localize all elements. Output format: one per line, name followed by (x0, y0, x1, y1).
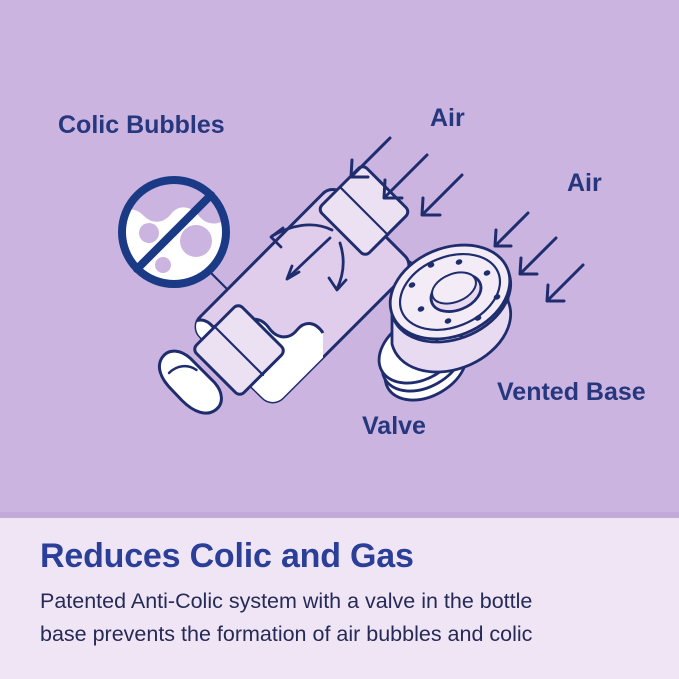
label-vented-base: Vented Base (497, 378, 646, 406)
caption-body: Patented Anti-Colic system with a valve … (40, 585, 655, 652)
anti-colic-diagram: Colic Bubbles Air Air Vented Base Valve (0, 0, 679, 517)
caption-body-line-1: Patented Anti-Colic system with a valve … (40, 585, 655, 618)
caption-body-line-2: base prevents the formation of air bubbl… (40, 618, 655, 651)
label-air-top: Air (430, 104, 465, 132)
label-colic-bubbles: Colic Bubbles (58, 111, 225, 139)
illustration-panel: Colic Bubbles Air Air Vented Base Valve (0, 0, 679, 517)
label-air-right: Air (567, 169, 602, 197)
product-feature-card: Colic Bubbles Air Air Vented Base Valve … (0, 0, 679, 679)
caption-panel: Reduces Colic and Gas Patented Anti-Coli… (0, 518, 679, 679)
label-valve: Valve (362, 412, 426, 440)
page-title: Reduces Colic and Gas (40, 539, 414, 575)
